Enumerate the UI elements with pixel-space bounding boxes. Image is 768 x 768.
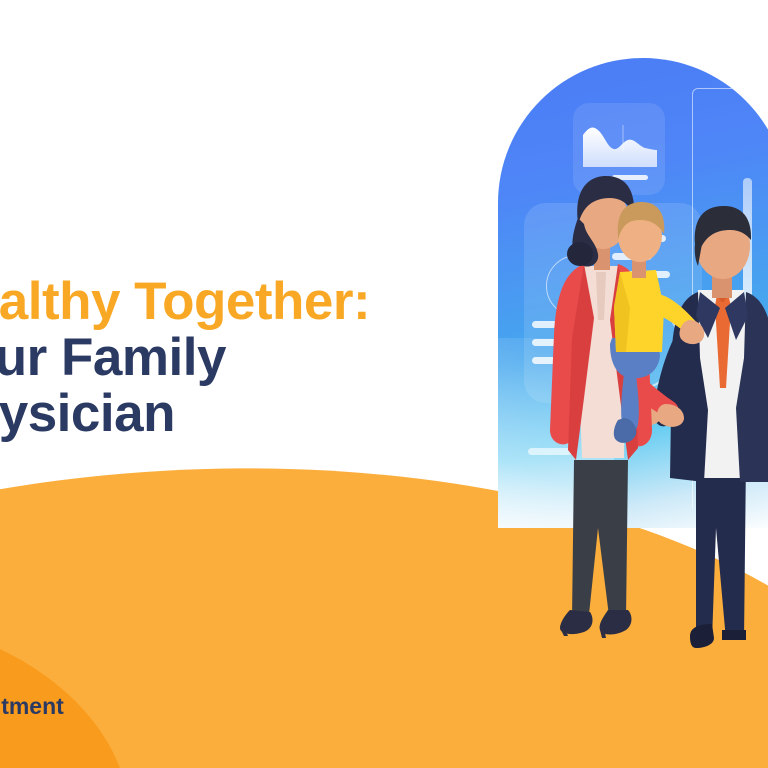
slide-canvas: Healthy Together: Your Family Physician … xyxy=(0,0,768,768)
headline: Healthy Together: Your Family Physician xyxy=(0,274,492,443)
figure-woman xyxy=(550,176,684,638)
family-figures xyxy=(498,58,768,658)
headline-line-2: Your Family xyxy=(0,330,492,386)
footer-label: Appointment xyxy=(0,693,64,720)
illustration xyxy=(498,58,768,658)
headline-line-1: Healthy Together: xyxy=(0,274,492,330)
headline-line-3: Physician xyxy=(0,386,492,442)
